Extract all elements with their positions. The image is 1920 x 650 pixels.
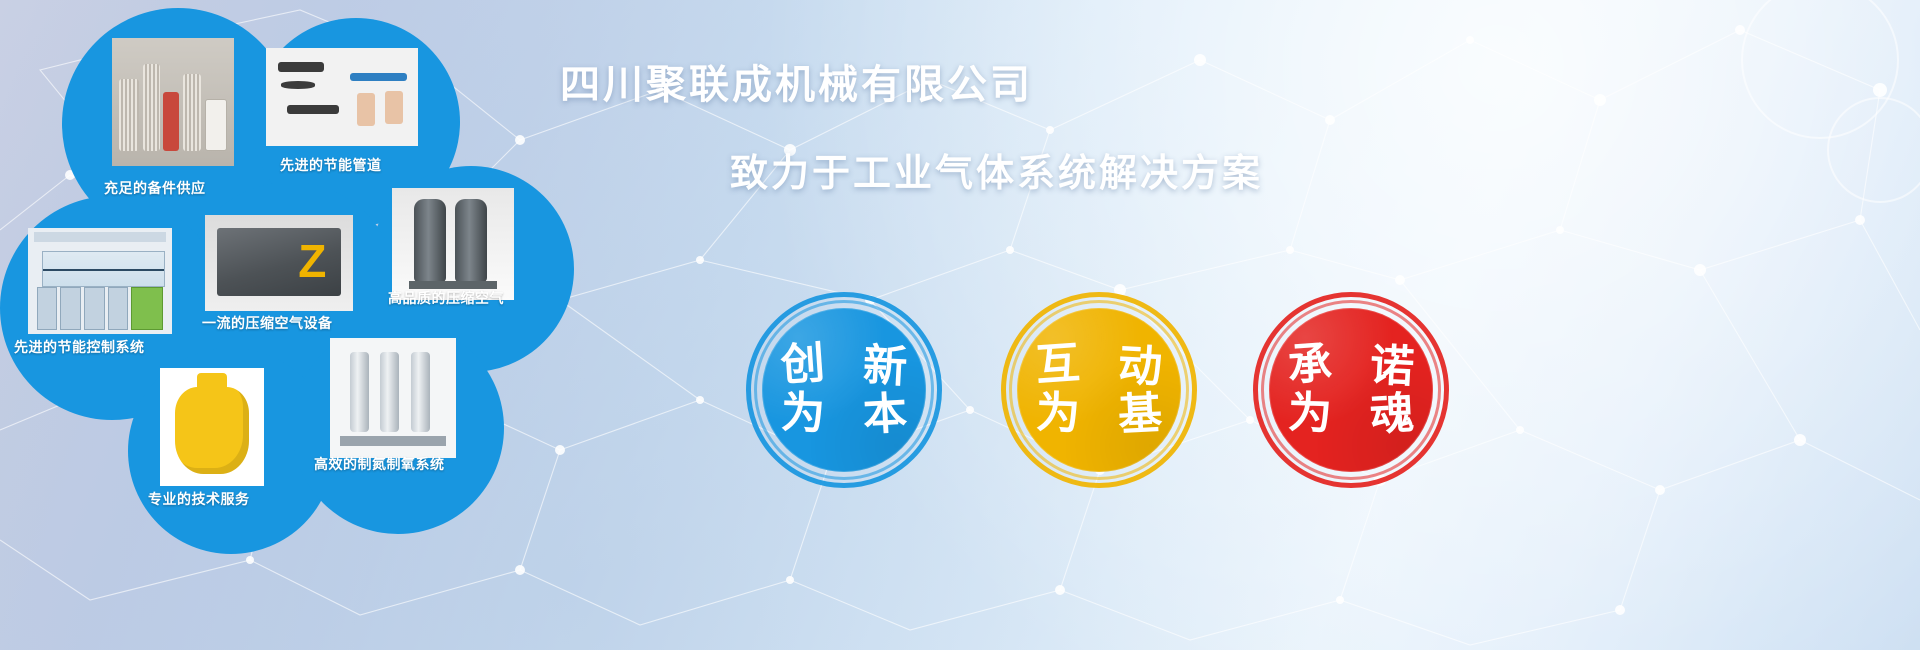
banner-headline: 四川聚联成机械有限公司: [560, 52, 1033, 110]
feature-label-spare-parts: 充足的备件供应: [104, 178, 206, 198]
photo-energy-pipeline: [266, 48, 418, 146]
seal-char: 魂: [1369, 392, 1415, 439]
feature-cluster: Z: [0, 0, 620, 650]
seal-text-commitment: 承 诺 为 魂: [1269, 308, 1433, 472]
feature-label-energy-pipeline: 先进的节能管道: [280, 155, 382, 175]
seal-char: 承: [1286, 342, 1333, 390]
seal-text-innovation: 创 新 为 本: [762, 308, 926, 472]
feature-label-nitrogen-oxygen: 高效的制氮制氧系统: [314, 454, 445, 474]
seal-char: 新: [862, 344, 908, 391]
seal-char: 诺: [1369, 344, 1415, 391]
photo-control-system: [28, 228, 172, 334]
feature-label-control-system: 先进的节能控制系统: [14, 337, 145, 357]
seal-interaction: 互 动 为 基: [1001, 292, 1197, 488]
seal-innovation: 创 新 为 本: [746, 292, 942, 488]
photo-tech-service: [160, 368, 264, 486]
feature-label-tech-service: 专业的技术服务: [148, 489, 250, 509]
seal-char: 为: [1287, 391, 1333, 437]
seal-char: 为: [1035, 391, 1081, 437]
seal-char: 互: [1034, 342, 1081, 390]
photo-compressor: Z: [205, 215, 353, 311]
seal-char: 基: [1117, 392, 1163, 439]
photo-spare-parts: [112, 38, 234, 166]
seal-text-interaction: 互 动 为 基: [1017, 308, 1181, 472]
feature-label-air-quality: 高品质的压缩空气: [388, 288, 504, 308]
seal-char: 为: [780, 391, 826, 437]
photo-nitrogen-oxygen: [330, 338, 456, 458]
feature-label-compressor: 一流的压缩空气设备: [202, 313, 333, 333]
hero-banner: Z: [0, 0, 1920, 650]
banner-subheadline: 致力于工业气体系统解决方案: [730, 142, 1263, 197]
seal-char: 创: [779, 342, 826, 390]
photo-air-quality: [392, 188, 514, 300]
seal-commitment: 承 诺 为 魂: [1253, 292, 1449, 488]
seal-char: 本: [862, 392, 908, 439]
seal-char: 动: [1117, 344, 1163, 391]
